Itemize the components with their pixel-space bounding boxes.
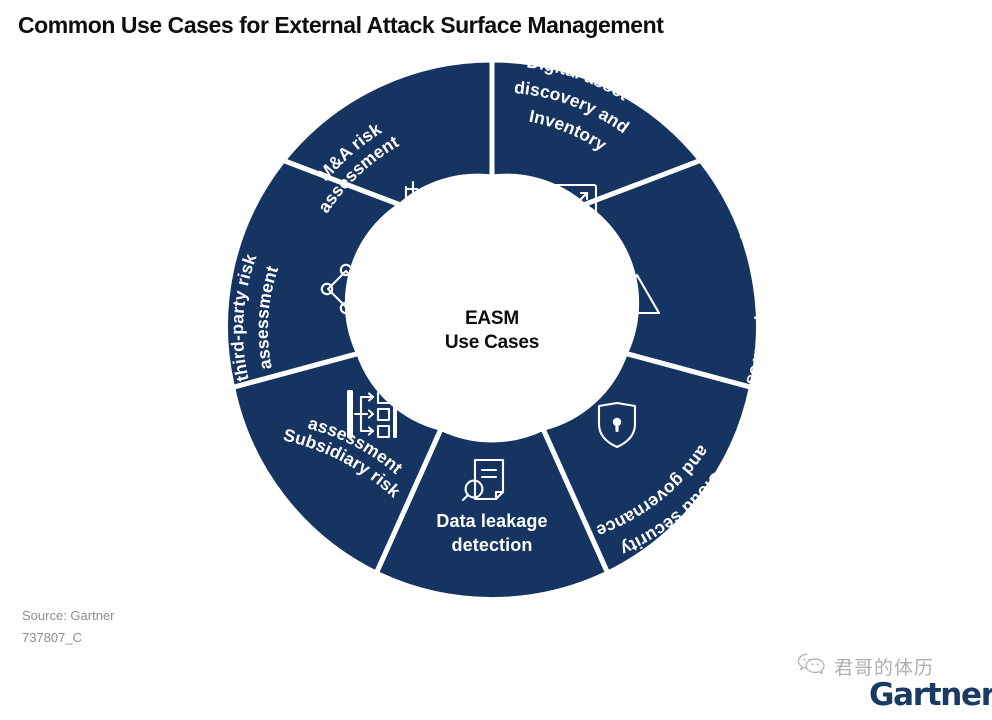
gartner-logo-text: Gartner [869,677,992,713]
label-data-leakage-detection-line1: Data leakage [436,511,547,531]
center-label-line1: EASM [465,308,519,329]
label-remediate-vulnerabilities-line1: Remediate [803,265,829,359]
gartner-logo: Gartner. [869,678,992,715]
label-data-leakage-detection-line2: detection [452,535,533,555]
center-label-line2: Use Cases [445,332,539,353]
wechat-icon [797,652,827,681]
source-block: Source: Gartner 737807_C [22,605,115,649]
segment-remediate-vulnerabilities[interactable] [583,160,758,387]
source-text: Source: Gartner [22,605,115,627]
watermark-text: 君哥的体历 [834,653,934,680]
easm-use-case-wheel: Digital asset discovery and Inventory Re… [0,0,992,720]
document-id: 737807_C [22,627,115,649]
donut-svg: Digital asset discovery and Inventory Re… [0,0,992,720]
center-hub: EASM Use Cases [445,308,539,353]
